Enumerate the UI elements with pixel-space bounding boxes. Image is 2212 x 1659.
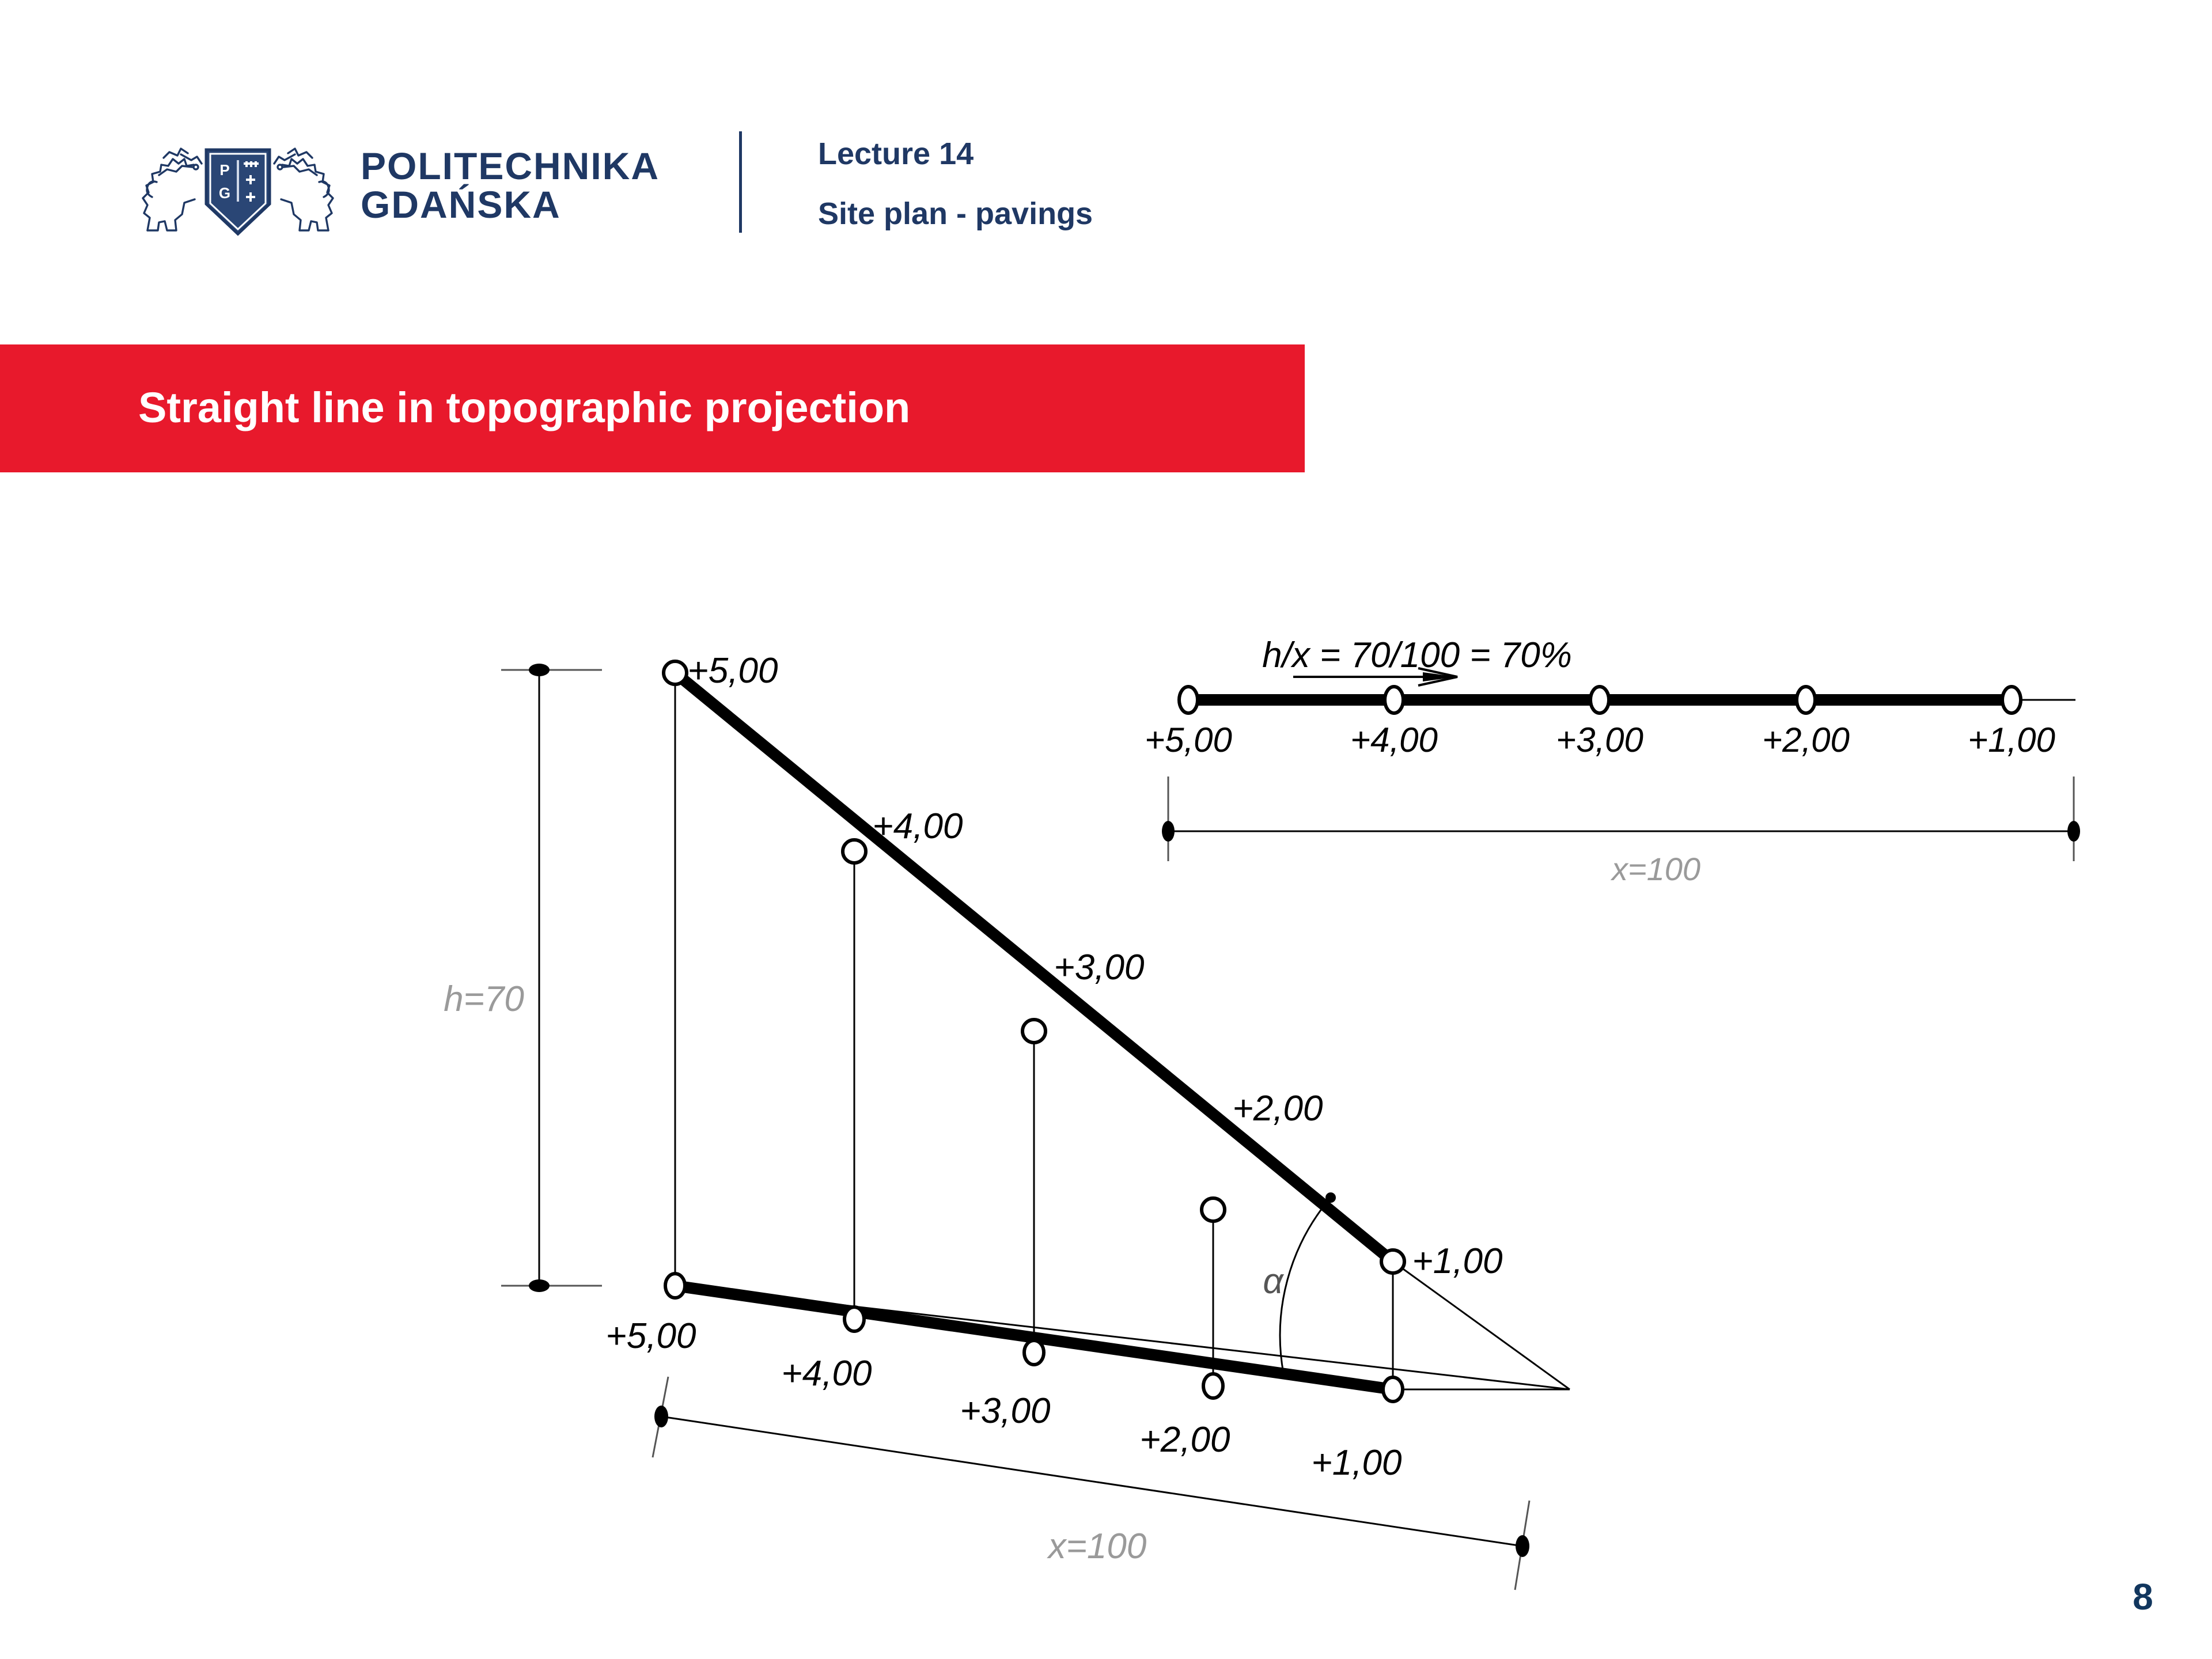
inclined-level-label: +5,00 [688,651,778,691]
top-x-dimension: x=100 [1162,777,2080,887]
top-level-label: +1,00 [1968,721,2055,759]
level-node [844,1307,864,1331]
top-marker-node [1179,687,1198,713]
level-node [1022,1020,1046,1043]
dimension-tick-icon [654,1406,668,1427]
plan-level-label: +1,00 [1312,1443,1402,1483]
plan-level-label: +3,00 [960,1391,1051,1431]
top-marker-node [1385,687,1403,713]
elevation-view: h=70 α [444,651,1570,1590]
length-dimension: x=100 [653,1377,1529,1590]
page-number: 8 [2108,1575,2177,1618]
top-marker-node [2002,687,2021,713]
top-x-dimension-label: x=100 [1610,851,1700,887]
length-dimension-label: x=100 [1047,1527,1147,1566]
topographic-projection-drawing: h/x = 70/100 = 70% +5,00 +4,00 +3,00 +2,… [0,0,2212,1659]
dimension-tick-icon [529,664,550,676]
height-dimension: h=70 [444,664,602,1292]
angle-alpha-arc [1278,1192,1336,1378]
top-level-label: +4,00 [1350,721,1438,759]
level-node [1024,1340,1044,1365]
level-node [1381,1250,1404,1273]
level-node [665,1274,685,1298]
level-node [843,840,866,863]
dimension-tick-icon [1162,821,1175,842]
inclined-level-label: +2,00 [1233,1089,1323,1128]
dimension-tick-icon [2067,821,2080,842]
level-node [1202,1198,1225,1221]
level-node [1383,1377,1403,1402]
angle-alpha-label: α [1263,1262,1284,1301]
top-marker-node [1797,687,1815,713]
level-node [664,661,687,684]
inclined-level-label: +1,00 [1412,1241,1503,1281]
plan-level-label: +2,00 [1140,1420,1230,1460]
dimension-tick-icon [1516,1535,1529,1557]
inclined-level-label: +4,00 [873,806,963,846]
plan-level-label: +4,00 [782,1354,872,1393]
top-marker-node [1590,687,1609,713]
level-node [1203,1374,1223,1398]
height-dimension-label: h=70 [444,979,524,1019]
top-plan-view: h/x = 70/100 = 70% +5,00 +4,00 +3,00 +2,… [1145,635,2080,887]
inclined-level-label: +3,00 [1054,948,1145,987]
top-level-label: +2,00 [1762,721,1850,759]
slope-formula-label: h/x = 70/100 = 70% [1262,635,1572,675]
top-level-label: +3,00 [1556,721,1643,759]
dimension-tick-icon [529,1279,550,1292]
plan-level-label: +5,00 [606,1316,696,1356]
top-level-label: +5,00 [1145,721,1232,759]
